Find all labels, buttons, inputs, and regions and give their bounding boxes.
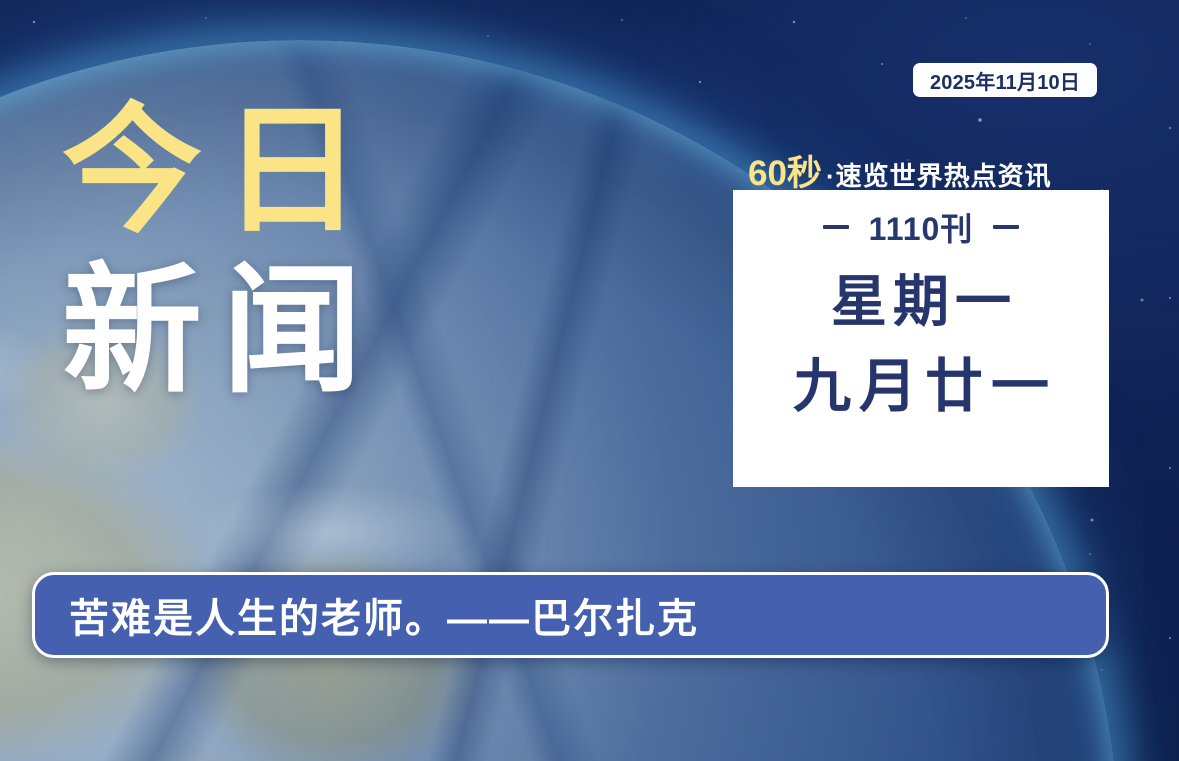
dash-left-icon xyxy=(823,225,849,229)
page-title: 今日 新闻 xyxy=(62,96,482,406)
tagline: 60秒 ·速览世界热点资讯 xyxy=(748,145,1052,196)
tagline-duration: 60秒 xyxy=(748,145,822,196)
tagline-description: ·速览世界热点资讯 xyxy=(826,156,1052,193)
lunar-date-label: 九月廿一 xyxy=(785,356,1057,418)
issue-info-card: 1110刊 星期一 九月廿一 xyxy=(733,190,1109,487)
news-poster: 2025年11月10日 今日 新闻 60秒 ·速览世界热点资讯 1110刊 星期… xyxy=(0,0,1179,761)
page-title-line-news: 新闻 xyxy=(62,256,482,406)
date-badge: 2025年11月10日 xyxy=(913,63,1097,97)
quote-banner: 苦难是人生的老师。——巴尔扎克 xyxy=(32,572,1109,658)
quote-text: 苦难是人生的老师。——巴尔扎克 xyxy=(69,586,699,644)
issue-row: 1110刊 xyxy=(823,204,1020,250)
weekday-label: 星期一 xyxy=(825,272,1017,332)
issue-number: 1110刊 xyxy=(869,204,974,250)
page-title-line-today: 今日 xyxy=(62,96,482,246)
dash-right-icon xyxy=(993,225,1019,229)
